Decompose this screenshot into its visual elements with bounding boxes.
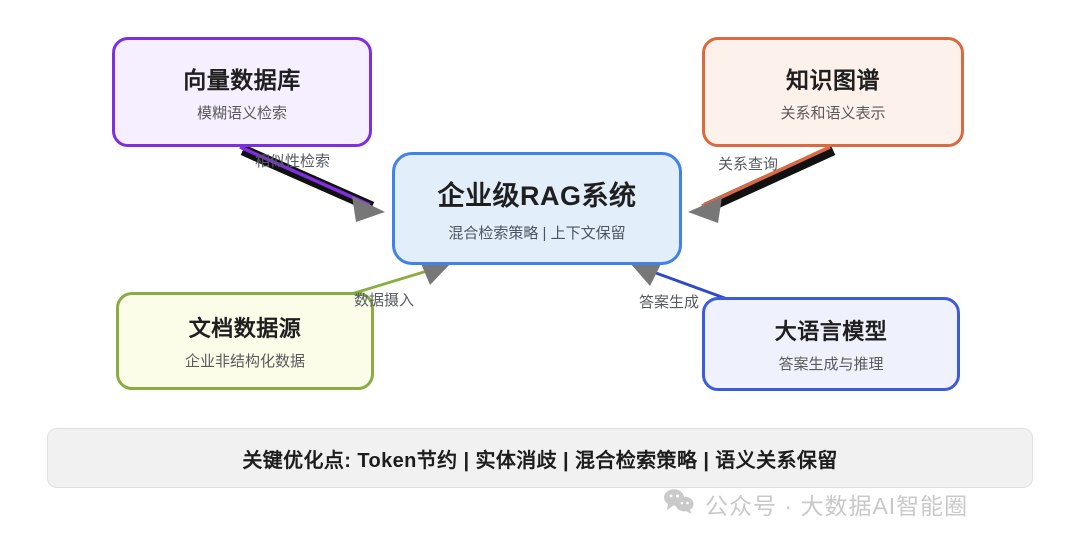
wechat-icon bbox=[663, 488, 695, 520]
node-doc-source-title: 文档数据源 bbox=[189, 311, 302, 343]
node-knowledge-graph-title: 知识图谱 bbox=[786, 61, 880, 95]
edge-label-similarity: 相似性检索 bbox=[255, 150, 330, 171]
diagram-canvas: 向量数据库 模糊语义检索 知识图谱 关系和语义表示 企业级RAG系统 混合检索策… bbox=[0, 0, 1080, 546]
edge-label-ingest: 数据摄入 bbox=[354, 289, 414, 310]
key-optimization-banner: 关键优化点: Token节约 | 实体消歧 | 混合检索策略 | 语义关系保留 bbox=[47, 428, 1033, 488]
node-vector-db-subtitle: 模糊语义检索 bbox=[197, 102, 287, 123]
node-llm-subtitle: 答案生成与推理 bbox=[778, 353, 883, 374]
node-rag-core-subtitle: 混合检索策略 | 上下文保留 bbox=[448, 222, 625, 243]
edge-label-answer: 答案生成 bbox=[639, 291, 699, 312]
node-vector-db-title: 向量数据库 bbox=[183, 61, 301, 95]
node-knowledge-graph[interactable]: 知识图谱 关系和语义表示 bbox=[702, 37, 964, 147]
node-vector-db[interactable]: 向量数据库 模糊语义检索 bbox=[112, 37, 372, 147]
key-optimization-banner-text: 关键优化点: Token节约 | 实体消歧 | 混合检索策略 | 语义关系保留 bbox=[242, 444, 837, 473]
node-knowledge-graph-subtitle: 关系和语义表示 bbox=[780, 102, 885, 123]
watermark: 公众号 · 大数据AI智能圈 bbox=[663, 487, 968, 521]
edge-label-relation: 关系查询 bbox=[718, 153, 778, 174]
node-rag-core[interactable]: 企业级RAG系统 混合检索策略 | 上下文保留 bbox=[392, 152, 682, 265]
watermark-text: 公众号 · 大数据AI智能圈 bbox=[705, 487, 968, 521]
node-doc-source[interactable]: 文档数据源 企业非结构化数据 bbox=[116, 292, 374, 390]
node-llm-title: 大语言模型 bbox=[775, 314, 888, 346]
node-rag-core-title: 企业级RAG系统 bbox=[438, 174, 637, 213]
node-llm[interactable]: 大语言模型 答案生成与推理 bbox=[702, 297, 960, 391]
node-doc-source-subtitle: 企业非结构化数据 bbox=[185, 350, 305, 371]
